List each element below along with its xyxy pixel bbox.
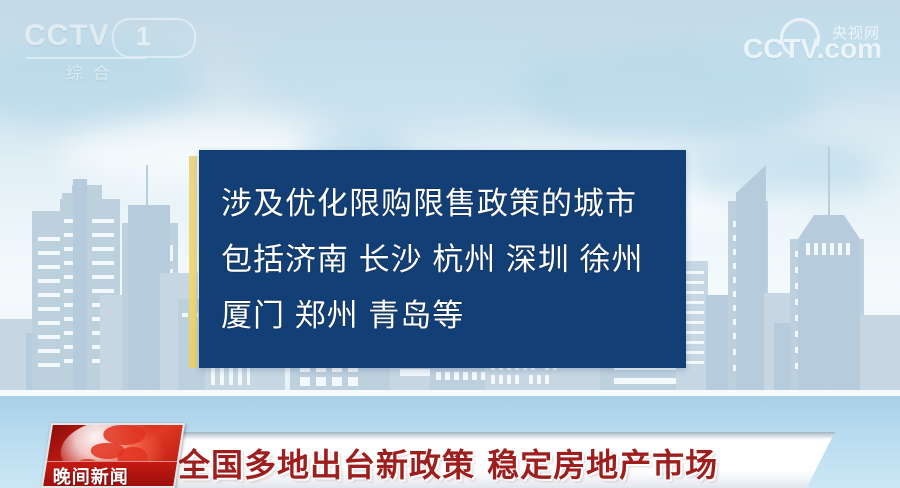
broadcast-screenshot: CCTV 1 综合 央视网 CCTV.com 涉及优化限购限售政策的城市 包括济… (0, 0, 900, 488)
callout-panel: 涉及优化限购限售政策的城市 包括济南 长沙 杭州 深圳 徐州 厦门 郑州 青岛等 (199, 150, 686, 368)
cctv1-subtitle: 综合 (66, 59, 120, 84)
cctv1-channel-number: 1 (136, 21, 150, 52)
antenna (146, 165, 148, 391)
building-spire (736, 165, 766, 391)
program-logo-strip: 晚间新闻 (43, 461, 181, 486)
callout-line-3: 厦门 郑州 青岛等 (221, 288, 664, 344)
callout-line-2: 包括济南 长沙 杭州 深圳 徐州 (221, 232, 664, 288)
antenna (828, 147, 830, 391)
program-logo-label: 晚间新闻 (53, 463, 129, 488)
cctv-com-watermark: 央视网 CCTV.com (743, 22, 882, 64)
cctv-com-chinese-label: 央视网 (832, 22, 880, 43)
callout-accent-bar (189, 156, 197, 368)
cctv1-channel-logo: CCTV 1 综合 (24, 20, 199, 78)
program-logo: 晚间新闻 (41, 423, 185, 488)
building-cap (73, 179, 87, 391)
cctv1-pill-shape (112, 18, 196, 58)
callout-line-1: 涉及优化限购限售政策的城市 (221, 176, 664, 232)
lower-third-headline: 全国多地出台新政策 稳定房地产市场 (178, 440, 718, 486)
building (860, 315, 900, 391)
globe-landmass (102, 425, 147, 445)
